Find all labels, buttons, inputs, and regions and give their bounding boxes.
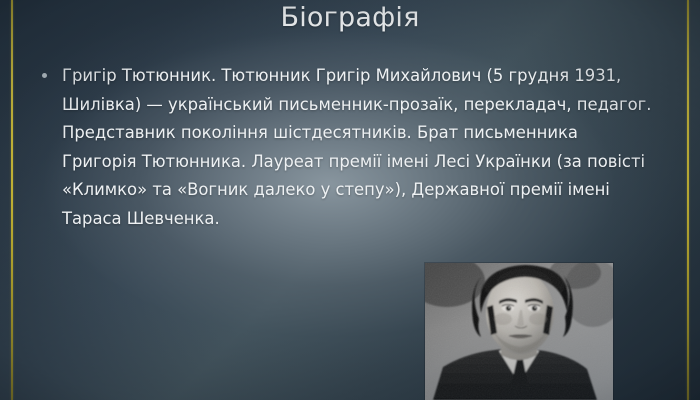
portrait-photo [425, 263, 613, 400]
bullet-dot-icon [42, 73, 47, 78]
slide: Біографія Григір Тютюнник. Тютюнник Григ… [0, 0, 700, 400]
list-item: Григір Тютюнник. Тютюнник Григір Михайло… [36, 62, 656, 234]
gold-rule-right [687, 0, 689, 400]
portrait-image [425, 263, 613, 400]
gold-rule-left [11, 0, 13, 400]
list-item-label: Григір Тютюнник. Тютюнник Григір Михайло… [62, 66, 651, 228]
page-title: Біографія [0, 1, 700, 35]
body-content: Григір Тютюнник. Тютюнник Григір Михайло… [36, 62, 656, 234]
